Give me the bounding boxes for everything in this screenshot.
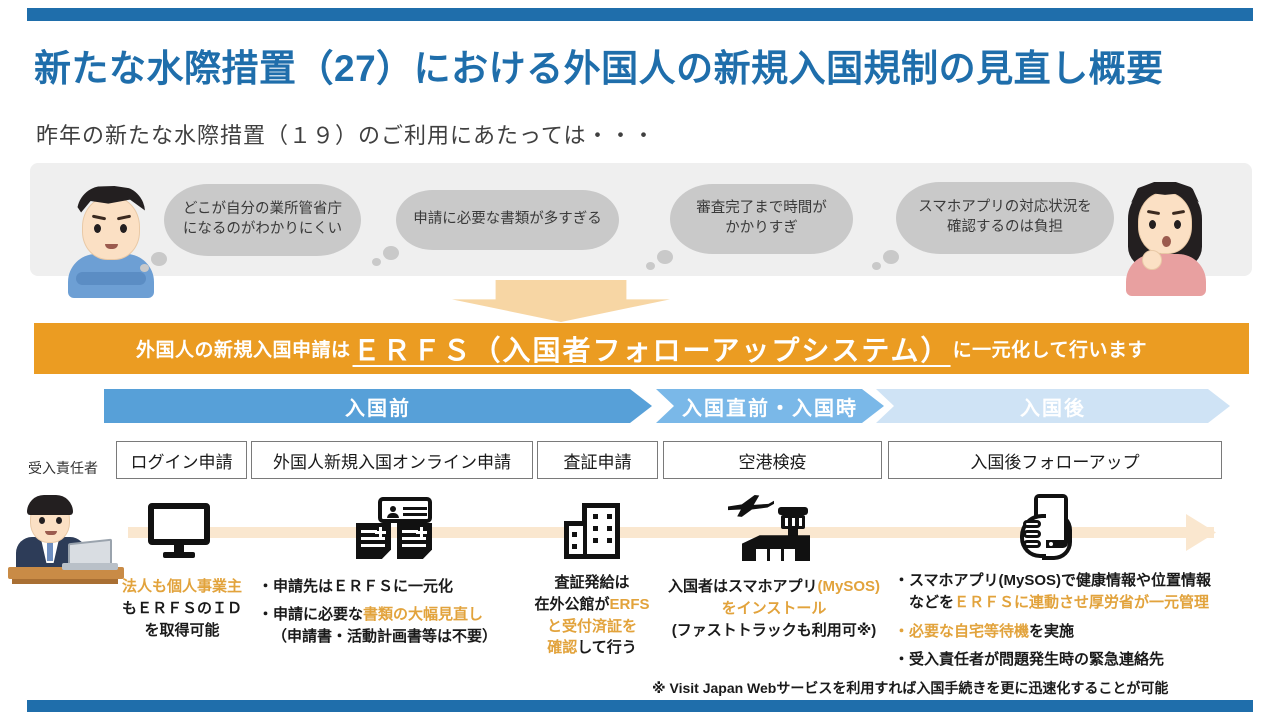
caption-5-bullet-2-plain: を実施 [1029,623,1074,640]
woman-hand [1142,250,1162,270]
phase-label-3: 入国後 [1020,392,1086,421]
control-tower-cabin [781,515,805,529]
caption-2-bullet-1-highlight: ＥＲＦＳに一元化 [333,578,453,595]
caption-4-line-1-plain: 入国者はスマホアプリ [668,578,818,595]
caption-online-application: ・申請先はＥＲＦＳに一元化 ・申請に必要な書類の大幅見直し （申請書・活動計画書… [258,576,514,647]
erfs-banner-suffix: に一元化して行います [953,335,1147,362]
page-title: 新たな水際措置（27）における外国人の新規入国規制の見直し概要 [34,38,1244,92]
id-card-avatar [387,506,398,517]
complaint-bubble-3: 審査完了まで時間が かかりすぎ [670,184,853,254]
airport-plane-icon [726,495,812,561]
caption-5-bullet-1-b-plain: などを [894,594,954,611]
caption-5-bullet-3: ・受入責任者が問題発生時の緊急連絡先 [894,649,1246,671]
building-window [572,532,577,537]
caption-2-bullet-2-plain: ・申請に必要な [258,606,363,623]
step-box-online-application[interactable]: 外国人新規入国オンライン申請 [251,441,533,479]
monitor-neck [174,545,184,552]
desk-edge [12,579,118,584]
caption-3-line-2-highlight: ERFS [610,596,650,613]
monitor-icon [148,503,210,557]
airplane-icon [728,495,774,521]
caption-3-line-4: 確認して行う [524,637,660,659]
terminal-door [770,549,781,561]
phase-chevron-bar: 入国前 入国直前・入国時 入国後 [104,389,1230,423]
building-low-inner [569,526,583,554]
complaint-bubble-3-line1: 審査完了まで時間が [696,200,827,216]
slide-root: 新たな水際措置（27）における外国人の新規入国規制の見直し概要 昨年の新たな水際… [0,0,1280,720]
monitor-screen [148,503,210,545]
bottom-rule [27,700,1253,712]
caption-5-bullet-2-highlight: ・必要な自宅等待機 [894,623,1029,640]
document-1-line-3 [361,544,385,547]
woman-mouth [1162,236,1171,247]
receiver-responsible-label: 受入責任者 [17,458,109,478]
complaint-bubble-4-line2: 確認するのは負担 [947,219,1063,235]
subtitle: 昨年の新たな水際措置（１９）のご利用にあたっては・・・ [36,118,655,150]
control-tower-top [778,507,808,515]
man-arms [76,272,146,285]
step-box-visa-application[interactable]: 査証申請 [537,441,658,479]
caption-2-bullet-1-plain: ・申請先は [258,578,333,595]
desk-person-tie [47,543,53,561]
building-window [607,514,612,519]
hand-finger [1023,520,1041,528]
caption-5-bullet-1-a: ・スマホアプリ(MySOS)で健康情報や位置情報 [894,570,1246,592]
caption-5-bullet-1-b: などをＥＲＦＳに連動させ厚労省が一元管理 [894,592,1246,614]
down-arrow-icon [452,280,670,322]
erfs-banner-prefix: 外国人の新規入国申請は [136,335,351,362]
building-icon [564,503,620,559]
woman-eye-left [1149,220,1156,229]
worried-woman-illustration [1118,176,1214,294]
tower-glass [792,518,795,526]
complaint-bubble-1-line2: になるのがわかりにくい [183,221,342,237]
caption-4-line-3: (ファストトラックも利用可※) [660,620,888,642]
complaint-bubble-2: 申請に必要な書類が多すぎる [396,190,619,250]
id-card-icon [378,497,432,523]
airport-terminal [742,531,810,561]
desk-person-eye-right [56,517,62,524]
document-2-line-3 [402,544,426,547]
caption-3-line-4-highlight: 確認 [547,639,577,656]
building-window [572,544,577,549]
desk-person-eye-left [39,517,45,524]
smartphone-home-button [1049,542,1053,546]
caption-4-line-2: をインストール [660,598,888,620]
erfs-banner: 外国人の新規入国申請は ＥＲＦＳ（入国者フォローアップシステム） に一元化して行… [34,323,1249,374]
man-face [82,196,140,260]
worried-man-illustration [62,182,158,294]
document-2-plus [416,527,427,538]
smartphone-in-hand-icon [1020,494,1080,564]
complaint-bubble-3-line2: かかりすぎ [725,220,798,236]
timeline-arrow-icon [1186,514,1216,551]
building-window [593,526,598,531]
woman-eye-right [1174,220,1181,229]
phase-chevron-at-entry: 入国直前・入国時 [656,389,884,423]
terminal-door [784,549,795,561]
caption-1-line-3: を取得可能 [112,620,252,642]
tower-glass [799,518,802,526]
tower-glass [785,518,788,526]
complaint-bubble-2-line1: 申請に必要な書類が多すぎる [413,210,602,230]
footnote: ※ Visit Japan Webサービスを利用すれば入国手続きを更に迅速化する… [652,678,1232,698]
caption-1-line-2: もＥＲＦＳのＩＤ [112,598,252,620]
building-window [593,538,598,543]
phase-chevron-before-entry: 入国前 [104,389,652,423]
businessman-at-desk-illustration [8,493,124,585]
caption-3-line-2-plain: 在外公館が [534,596,609,613]
caption-visa-application: 査証発給は 在外公館がERFS と受付済証を 確認して行う [524,572,660,659]
laptop-base-icon [62,563,118,570]
document-1-plus [375,527,386,538]
woman-body [1126,254,1206,296]
caption-1-line-1: 法人も個人事業主 [112,576,252,598]
caption-login-application: 法人も個人事業主 もＥＲＦＳのＩＤ を取得可能 [112,576,252,641]
caption-3-line-2: 在外公館がERFS [524,594,660,616]
caption-2-bullet-1: ・申請先はＥＲＦＳに一元化 [258,576,514,598]
complaint-bubble-1: どこが自分の業所管省庁 になるのがわかりにくい [164,184,361,256]
complaint-bubble-4-line1: スマホアプリの対応状況を [918,199,1092,215]
desk-person-hair [27,495,73,515]
erfs-banner-emphasis: ＥＲＦＳ（入国者フォローアップシステム） [351,329,953,369]
man-eye-left [94,224,101,233]
id-card-documents-icon [356,497,432,559]
caption-3-line-3: と受付済証を [524,616,660,638]
caption-4-line-1: 入国者はスマホアプリ(MySOS) [660,576,888,598]
building-window [593,514,598,519]
complaint-bubble-1-line1: どこが自分の業所管省庁 [183,201,342,217]
document-icon-2 [397,523,432,559]
building-window [607,526,612,531]
man-eye-right [120,224,127,233]
id-card-line-1 [403,507,427,510]
caption-2-bullet-2: ・申請に必要な書類の大幅見直し [258,604,514,626]
caption-5-bullet-1: ・スマホアプリ(MySOS)で健康情報や位置情報 などをＥＲＦＳに連動させ厚労省… [894,570,1246,614]
caption-5-bullet-2: ・必要な自宅等待機を実施 [894,621,1246,643]
step-box-airport-quarantine[interactable]: 空港検疫 [663,441,882,479]
phase-chevron-after-entry: 入国後 [876,389,1230,423]
hand-finger [1023,540,1041,548]
complaint-bubble-4: スマホアプリの対応状況を 確認するのは負担 [896,182,1114,254]
caption-4-line-1-highlight: (MySOS) [818,578,881,595]
monitor-base [163,552,195,558]
caption-3-line-4-plain: して行う [577,639,637,656]
caption-5-bullet-1-b-highlight: ＥＲＦＳに連動させ厚労省が一元管理 [954,594,1209,611]
hand-finger [1023,530,1041,538]
document-icon-1 [356,523,391,559]
id-card-line-2 [403,513,427,516]
terminal-door [756,549,767,561]
phase-label-1: 入国前 [345,392,411,421]
phase-label-2: 入国直前・入国時 [682,392,858,421]
caption-airport-quarantine: 入国者はスマホアプリ(MySOS) をインストール (ファストトラックも利用可※… [660,576,888,641]
caption-post-entry-followup: ・スマホアプリ(MySOS)で健康情報や位置情報 などをＥＲＦＳに連動させ厚労省… [894,570,1246,678]
caption-3-line-1: 査証発給は [524,572,660,594]
step-box-post-entry-followup[interactable]: 入国後フォローアップ [888,441,1222,479]
caption-2-bullet-2-highlight: 書類の大幅見直し [363,606,483,623]
building-window [607,538,612,543]
top-rule [27,8,1253,21]
step-box-login-application[interactable]: ログイン申請 [116,441,247,479]
caption-2-bullet-3: （申請書・活動計画書等は不要） [258,626,514,648]
